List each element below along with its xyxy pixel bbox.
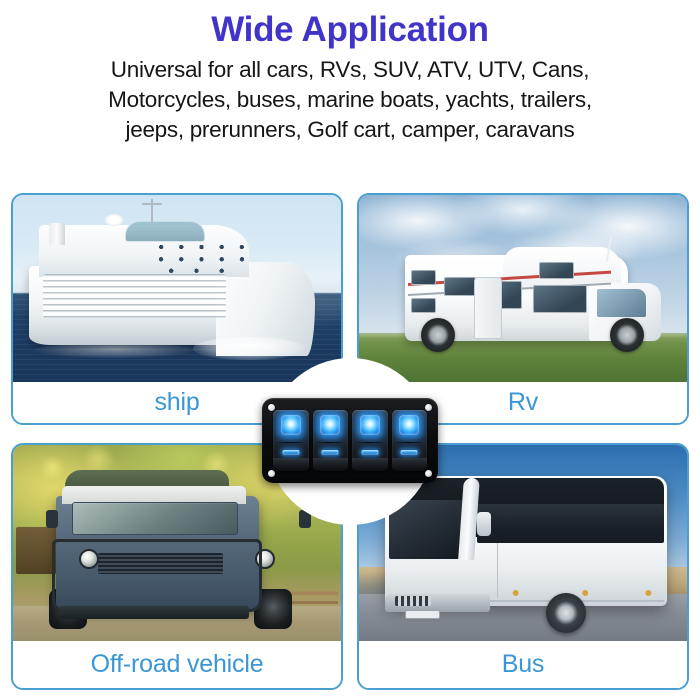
card-caption-offroad: Off-road vehicle: [13, 641, 341, 688]
rv-window: [539, 262, 574, 279]
rocker-split-line: [394, 442, 424, 444]
card-caption-bus: Bus: [359, 641, 687, 688]
switch-indicator-bar-icon: [322, 450, 339, 455]
bus-door-seam: [497, 543, 499, 598]
mounting-screw-icon: [268, 470, 275, 477]
bus-marker-lights: [503, 588, 660, 598]
mounting-screw-icon: [425, 470, 432, 477]
rocker-split-line: [315, 442, 345, 444]
ship-bow-wave: [193, 337, 305, 359]
switch-indicator-bar-icon: [361, 450, 378, 455]
ship-photo: [13, 195, 341, 382]
ship-deck-railings: [43, 274, 227, 319]
switch-indicator-bar-icon: [401, 450, 418, 455]
offroad-bumper: [59, 606, 249, 620]
offroad-bull-bar: [52, 539, 261, 612]
rocker-switch-panel[interactable]: [262, 398, 438, 483]
rocker-lower-lip: [392, 458, 428, 471]
rocker-split-line: [276, 442, 306, 444]
header: Wide Application Universal for all cars,…: [0, 0, 700, 145]
ship-wake-trail: [33, 343, 197, 358]
rocker-switch-3[interactable]: [352, 410, 388, 471]
rv-window: [411, 298, 436, 313]
rocker-lower-lip: [352, 458, 388, 471]
bus-side-mirror: [477, 512, 491, 536]
offroad-windshield: [72, 502, 238, 535]
offroad-wooden-shed: [16, 527, 55, 574]
offroad-side-mirror: [46, 510, 58, 528]
ship-portholes: [151, 240, 253, 276]
ship-radar-dome: [105, 214, 123, 226]
ship-observation-deck: [125, 221, 206, 242]
switch-led-icon: [360, 415, 380, 435]
page-title: Wide Application: [0, 12, 700, 47]
bus-license-plate: [405, 610, 440, 620]
ship-funnel: [49, 223, 65, 245]
rocker-lower-lip: [273, 458, 309, 471]
application-list-text: Universal for all cars, RVs, SUV, ATV, U…: [0, 55, 700, 145]
ship-mast: [151, 199, 153, 223]
rv-windshield: [597, 289, 646, 317]
rv-window: [444, 277, 476, 296]
bus-rear-wheel: [546, 593, 586, 633]
rv-entry-door: [474, 277, 502, 339]
rv-window: [411, 270, 436, 285]
rocker-split-line: [355, 442, 385, 444]
rv-window: [533, 285, 587, 313]
rocker-lower-lip: [313, 458, 349, 471]
switch-indicator-bar-icon: [282, 450, 299, 455]
rocker-switch-4[interactable]: [392, 410, 428, 471]
rocker-switch-2[interactable]: [313, 410, 349, 471]
bus-front-vents: [395, 596, 431, 606]
switch-led-icon: [281, 415, 301, 435]
mounting-screw-icon: [425, 404, 432, 411]
switch-led-icon: [320, 415, 340, 435]
mounting-screw-icon: [268, 404, 275, 411]
bus-side-windows: [477, 504, 664, 543]
rocker-switch-1[interactable]: [273, 410, 309, 471]
rv-photo: [359, 195, 687, 382]
switch-led-icon: [399, 415, 419, 435]
